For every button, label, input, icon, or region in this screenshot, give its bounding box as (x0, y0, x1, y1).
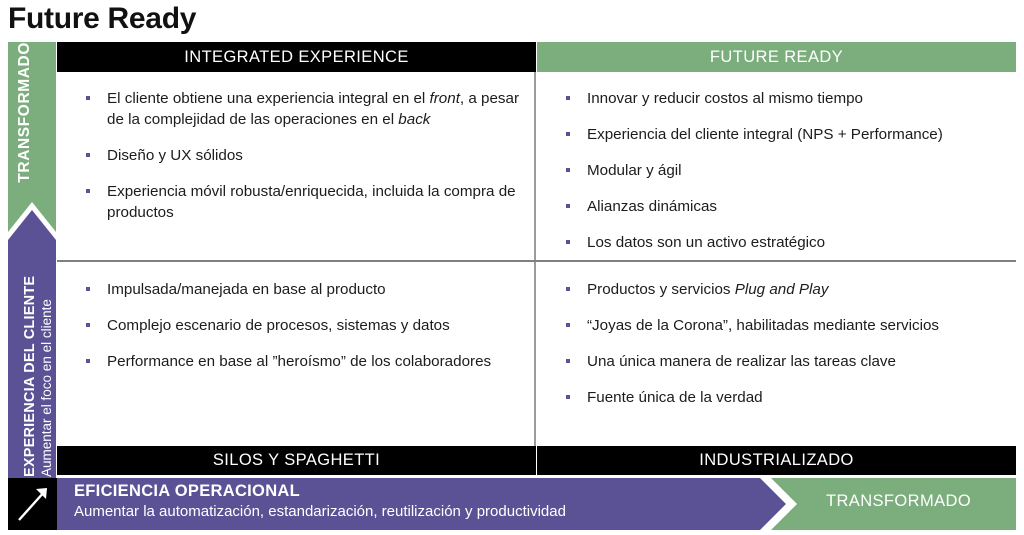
diagonal-arrow-up-right-icon (8, 478, 57, 530)
quadrant-bottom-left: Impulsada/manejada en base al productoCo… (57, 264, 534, 446)
bullet-item: “Joyas de la Corona”, habilitadas median… (563, 315, 1008, 336)
quadrant-matrix: INTEGRATED EXPERIENCE FUTURE READY El cl… (57, 42, 1016, 475)
axis-bottom-label-secondary: Aumentar el foco en el cliente (39, 227, 54, 477)
band-left-subtitle: Aumentar la automatización, estandarizac… (74, 503, 566, 520)
left-axis-arrow: TRANSFORMADO EXPERIENCIA DEL CLIENTE Aum… (8, 42, 56, 480)
bullet-item: Diseño y UX sólidos (83, 145, 526, 166)
bullet-item: Fuente única de la verdad (563, 387, 1008, 408)
bullet-item: El cliente obtiene una experiencia integ… (83, 88, 526, 130)
page-title: Future Ready (8, 0, 196, 40)
bullet-item: Impulsada/manejada en base al producto (83, 279, 526, 300)
band-left-title: EFICIENCIA OPERACIONAL (74, 482, 300, 501)
bullet-item: Productos y servicios Plug and Play (563, 279, 1008, 300)
bottom-progress-band: EFICIENCIA OPERACIONAL Aumentar la autom… (8, 478, 1016, 530)
column-header-integrated-experience: INTEGRATED EXPERIENCE (57, 42, 536, 72)
axis-top-label: TRANSFORMADO (16, 42, 34, 217)
column-header-future-ready: FUTURE READY (537, 42, 1016, 72)
bullet-list-bottom-left: Impulsada/manejada en base al productoCo… (83, 279, 526, 372)
column-footer-silos-y-spaghetti: SILOS Y SPAGHETTI (57, 446, 536, 475)
quadrant-top-left: El cliente obtiene una experiencia integ… (57, 74, 534, 260)
bullet-item: Performance en base al ”heroísmo” de los… (83, 351, 526, 372)
column-footer-industrializado: INDUSTRIALIZADO (537, 446, 1016, 475)
bullet-item: Una única manera de realizar las tareas … (563, 351, 1008, 372)
bullet-item: Experiencia móvil robusta/enriquecida, i… (83, 181, 526, 223)
vertical-divider (534, 72, 536, 446)
horizontal-divider (57, 260, 1016, 262)
axis-bottom-label-primary: EXPERIENCIA DEL CLIENTE (22, 227, 38, 477)
band-right-label: TRANSFORMADO (826, 492, 971, 511)
quadrant-top-right: Innovar y reducir costos al mismo tiempo… (537, 74, 1016, 260)
bullet-item: Experiencia del cliente integral (NPS + … (563, 124, 1008, 145)
bullet-list-bottom-right: Productos y servicios Plug and Play“Joya… (563, 279, 1008, 408)
bullet-item: Alianzas dinámicas (563, 196, 1008, 217)
bullet-item: Modular y ágil (563, 160, 1008, 181)
bullet-list-top-left: El cliente obtiene una experiencia integ… (83, 88, 526, 223)
bullet-item: Innovar y reducir costos al mismo tiempo (563, 88, 1008, 109)
bullet-item: Los datos son un activo estratégico (563, 232, 1008, 253)
quadrant-bottom-right: Productos y servicios Plug and Play“Joya… (537, 264, 1016, 446)
bullet-item: Complejo escenario de procesos, sistemas… (83, 315, 526, 336)
bullet-list-top-right: Innovar y reducir costos al mismo tiempo… (563, 88, 1008, 253)
